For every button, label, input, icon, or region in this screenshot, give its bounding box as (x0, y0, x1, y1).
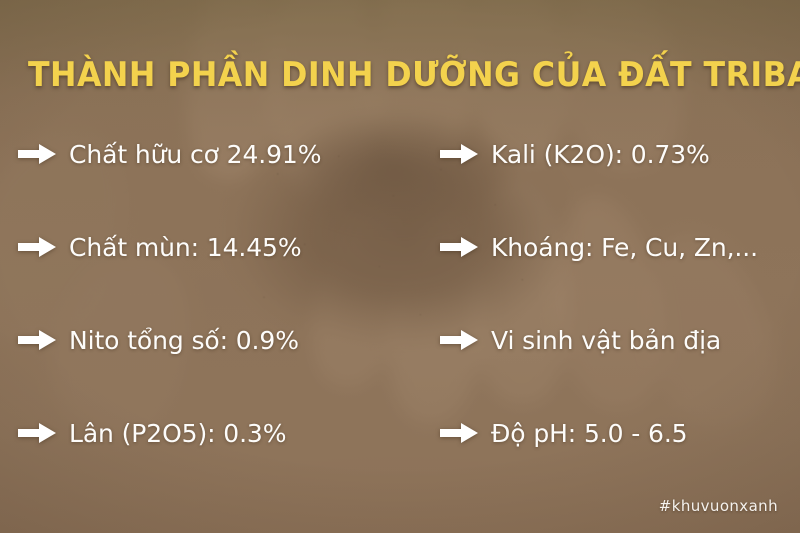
arrow-right-icon (18, 329, 56, 351)
page-title: THÀNH PHẦN DINH DƯỠNG CỦA ĐẤT TRIBAT (28, 58, 772, 92)
list-item-label: Kali (K2O): 0.73% (491, 142, 710, 167)
poster-content: THÀNH PHẦN DINH DƯỠNG CỦA ĐẤT TRIBAT Chấ… (0, 0, 800, 533)
nutrient-composition-poster: THÀNH PHẦN DINH DƯỠNG CỦA ĐẤT TRIBAT Chấ… (0, 0, 800, 533)
list-item: Khoáng: Fe, Cu, Zn,... (440, 229, 800, 265)
arrow-right-icon (440, 422, 478, 444)
list-item-label: Lân (P2O5): 0.3% (69, 421, 286, 446)
nutrient-column-right: Kali (K2O): 0.73% Khoáng: Fe, Cu, Zn,...… (428, 118, 800, 473)
list-item-label: Độ pH: 5.0 - 6.5 (491, 421, 687, 446)
list-item: Chất hữu cơ 24.91% (18, 136, 400, 172)
list-item: Chất mùn: 14.45% (18, 229, 400, 265)
arrow-right-icon (440, 143, 478, 165)
arrow-right-icon (440, 236, 478, 258)
arrow-right-icon (440, 329, 478, 351)
list-item-label: Nito tổng số: 0.9% (69, 328, 299, 353)
list-item: Lân (P2O5): 0.3% (18, 415, 400, 451)
arrow-right-icon (18, 236, 56, 258)
arrow-right-icon (18, 143, 56, 165)
list-item-label: Chất mùn: 14.45% (69, 235, 302, 260)
list-item-label: Khoáng: Fe, Cu, Zn,... (491, 235, 758, 260)
watermark-hashtag: #khuvuonxanh (659, 497, 778, 515)
list-item: Vi sinh vật bản địa (440, 322, 800, 358)
list-item: Nito tổng số: 0.9% (18, 322, 400, 358)
nutrient-column-left: Chất hữu cơ 24.91% Chất mùn: 14.45% Nito… (0, 118, 400, 473)
list-item: Kali (K2O): 0.73% (440, 136, 800, 172)
list-item-label: Vi sinh vật bản địa (491, 328, 721, 353)
arrow-right-icon (18, 422, 56, 444)
nutrient-list: Chất hữu cơ 24.91% Chất mùn: 14.45% Nito… (0, 118, 800, 473)
list-item-label: Chất hữu cơ 24.91% (69, 142, 321, 167)
list-item: Độ pH: 5.0 - 6.5 (440, 415, 800, 451)
